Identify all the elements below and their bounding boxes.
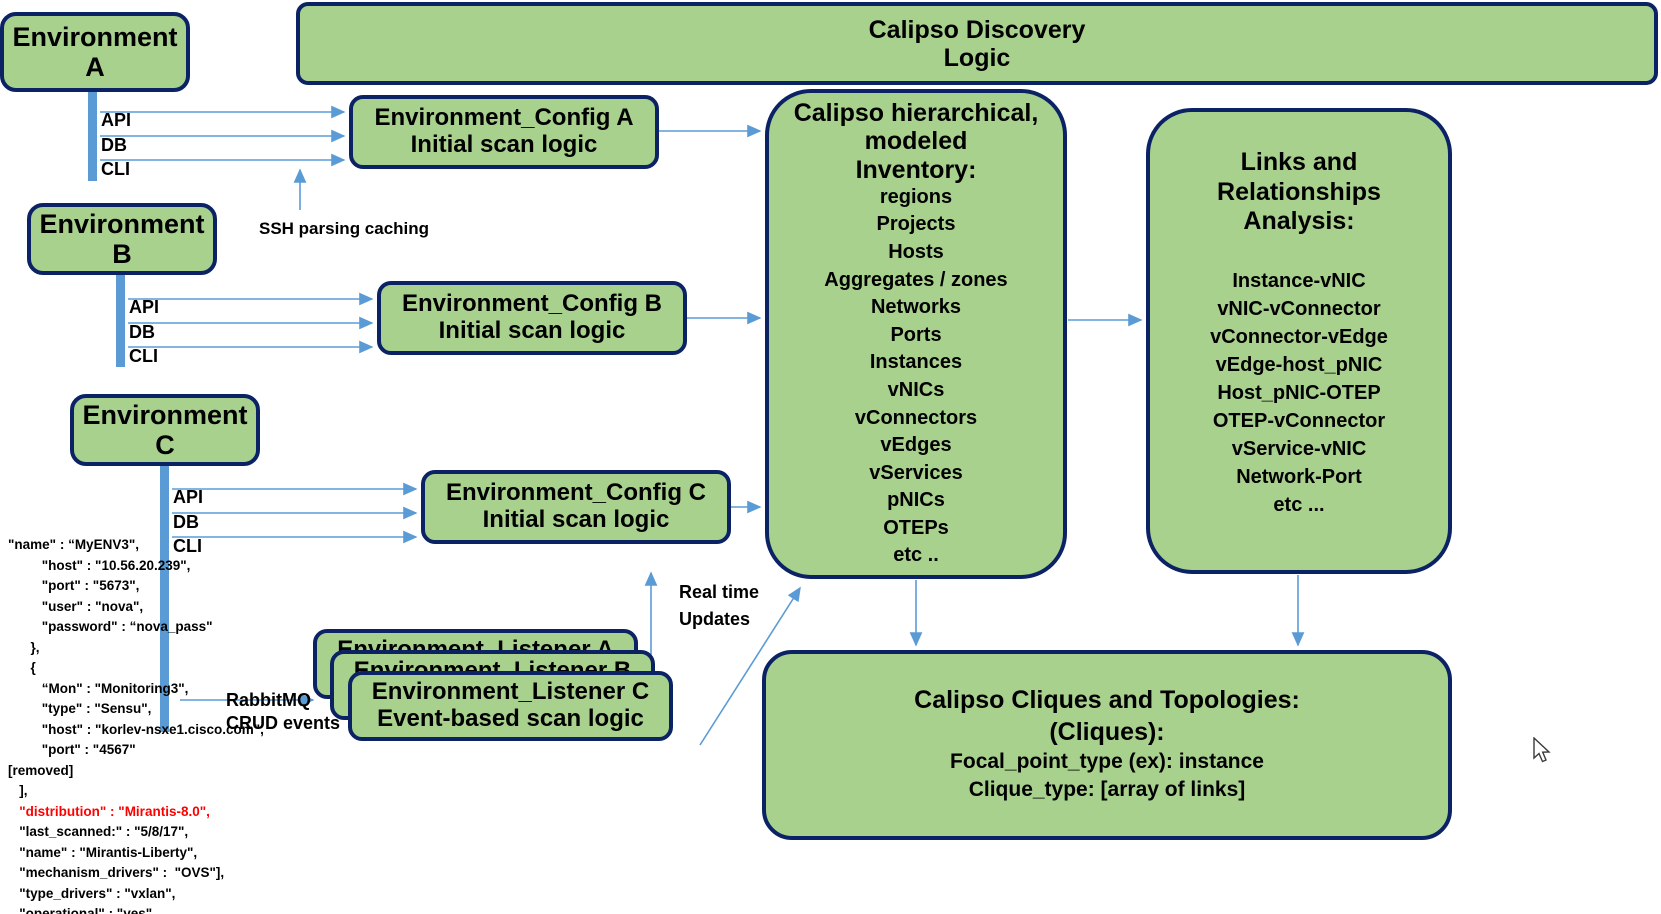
json-line: "host" : "10.56.20.239", bbox=[8, 556, 328, 577]
links-item: Instance-vNIC bbox=[1150, 267, 1448, 295]
inventory-item: Networks bbox=[769, 294, 1063, 322]
cliques-head-line-1: Calipso Cliques and Topologies: bbox=[766, 685, 1448, 716]
env-b-protocol-db: DB bbox=[129, 322, 155, 343]
json-line: "last_scanned:" : "5/8/17", bbox=[8, 822, 328, 843]
links-head-line-2: Relationships bbox=[1150, 178, 1448, 208]
links-item: vConnector-vEdge bbox=[1150, 323, 1448, 351]
environment-config-b-node[interactable]: Environment_Config B Initial scan logic bbox=[377, 281, 687, 355]
config-a-line-1: Environment_Config A bbox=[353, 105, 655, 132]
json-line: "name" : “MyENV3", bbox=[8, 535, 328, 556]
inventory-item: vConnectors bbox=[769, 405, 1063, 433]
calipso-cliques-topologies-node[interactable]: Calipso Cliques and Topologies: (Cliques… bbox=[762, 650, 1452, 840]
json-line: "distribution" : "Mirantis-8.0", bbox=[8, 802, 328, 823]
environment-a-line-1: Environment bbox=[4, 22, 186, 52]
cliques-item: Clique_type: [array of links] bbox=[766, 776, 1448, 804]
links-relationships-node[interactable]: Links and Relationships Analysis: Instan… bbox=[1146, 108, 1452, 574]
listener-c-line-2: Event-based scan logic bbox=[352, 706, 669, 733]
banner-line-1: Calipso Discovery bbox=[300, 16, 1654, 44]
env-a-bus-bar bbox=[88, 88, 97, 181]
ssh-parsing-caching-label: SSH parsing caching bbox=[259, 219, 429, 239]
env-c-protocol-api: API bbox=[173, 487, 203, 508]
inventory-item: Hosts bbox=[769, 239, 1063, 267]
environment-config-a-node[interactable]: Environment_Config A Initial scan logic bbox=[349, 95, 659, 169]
links-item: vEdge-host_pNIC bbox=[1150, 351, 1448, 379]
calipso-inventory-node[interactable]: Calipso hierarchical, modeled Inventory:… bbox=[765, 89, 1067, 579]
listener-c-line-1: Environment_Listener C bbox=[352, 679, 669, 706]
environment-c-line-1: Environment bbox=[74, 400, 256, 430]
realtime-updates-line-1: Real time bbox=[679, 582, 759, 603]
links-item: etc ... bbox=[1150, 491, 1448, 519]
links-spacer bbox=[1150, 237, 1448, 267]
links-item: Network-Port bbox=[1150, 463, 1448, 491]
inventory-head-line-2: modeled bbox=[769, 127, 1063, 155]
json-line: "user" : "nova", bbox=[8, 597, 328, 618]
config-a-line-2: Initial scan logic bbox=[353, 132, 655, 159]
cliques-item: Focal_point_type (ex): instance bbox=[766, 748, 1448, 776]
links-item: vService-vNIC bbox=[1150, 435, 1448, 463]
inventory-item: vServices bbox=[769, 460, 1063, 488]
inventory-item: vNICs bbox=[769, 377, 1063, 405]
environment-config-c-node[interactable]: Environment_Config C Initial scan logic bbox=[421, 470, 731, 544]
env-b-protocol-cli: CLI bbox=[129, 346, 158, 367]
json-line: [removed] bbox=[8, 761, 328, 782]
environment-a-node[interactable]: Environment A bbox=[0, 12, 190, 92]
inventory-item: Instances bbox=[769, 349, 1063, 377]
mouse-cursor-icon bbox=[1533, 737, 1555, 767]
inventory-item: pNICs bbox=[769, 487, 1063, 515]
inventory-item: regions bbox=[769, 184, 1063, 212]
json-line: "port" : "4567" bbox=[8, 740, 328, 761]
cliques-head-line-2: (Cliques): bbox=[766, 717, 1448, 748]
inventory-item: Aggregates / zones bbox=[769, 267, 1063, 295]
diagram-canvas: Calipso Discovery Logic Environment A En… bbox=[0, 0, 1661, 914]
env-c-protocol-db: DB bbox=[173, 512, 199, 533]
json-line: "mechanism_drivers" : "OVS"], bbox=[8, 863, 328, 884]
env-b-bus-bar bbox=[116, 272, 125, 367]
config-c-line-1: Environment_Config C bbox=[425, 480, 727, 507]
environment-b-line-1: Environment bbox=[31, 209, 213, 239]
environment-b-line-2: B bbox=[31, 239, 213, 269]
inventory-item: Projects bbox=[769, 211, 1063, 239]
env-b-protocol-api: API bbox=[129, 297, 159, 318]
realtime-updates-line-2: Updates bbox=[679, 609, 750, 630]
config-b-line-1: Environment_Config B bbox=[381, 291, 683, 318]
environment-c-node[interactable]: Environment C bbox=[70, 394, 260, 466]
inventory-item: vEdges bbox=[769, 432, 1063, 460]
links-item: OTEP-vConnector bbox=[1150, 407, 1448, 435]
env-a-protocol-cli: CLI bbox=[101, 159, 130, 180]
json-line: { bbox=[8, 658, 328, 679]
inventory-head-line-1: Calipso hierarchical, bbox=[769, 99, 1063, 127]
links-item: Host_pNIC-OTEP bbox=[1150, 379, 1448, 407]
json-line: "password" : “nova_pass" bbox=[8, 617, 328, 638]
env-a-protocol-api: API bbox=[101, 110, 131, 131]
links-item: vNIC-vConnector bbox=[1150, 295, 1448, 323]
json-line: }, bbox=[8, 638, 328, 659]
inventory-head-line-3: Inventory: bbox=[769, 156, 1063, 184]
inventory-item: OTEPs bbox=[769, 515, 1063, 543]
rabbitmq-label: RabbitMQ bbox=[226, 690, 311, 711]
json-line: "type_drivers" : "vxlan", bbox=[8, 884, 328, 905]
environment-c-line-2: C bbox=[74, 430, 256, 460]
inventory-item: Ports bbox=[769, 322, 1063, 350]
banner-line-2: Logic bbox=[300, 44, 1654, 72]
crud-events-label: CRUD events bbox=[226, 713, 340, 734]
inventory-item: etc .. bbox=[769, 542, 1063, 570]
environment-a-line-2: A bbox=[4, 52, 186, 82]
environment-listener-c-node[interactable]: Environment_Listener C Event-based scan … bbox=[348, 671, 673, 741]
json-line: ], bbox=[8, 781, 328, 802]
json-line: "operational" : "yes", bbox=[8, 904, 328, 914]
links-head-line-1: Links and bbox=[1150, 148, 1448, 178]
config-b-line-2: Initial scan logic bbox=[381, 318, 683, 345]
env-c-protocol-cli: CLI bbox=[173, 536, 202, 557]
json-line: "name" : "Mirantis-Liberty", bbox=[8, 843, 328, 864]
config-c-line-2: Initial scan logic bbox=[425, 507, 727, 534]
calipso-discovery-logic-banner: Calipso Discovery Logic bbox=[296, 2, 1658, 85]
json-line: "port" : "5673", bbox=[8, 576, 328, 597]
env-a-protocol-db: DB bbox=[101, 135, 127, 156]
links-head-line-3: Analysis: bbox=[1150, 207, 1448, 237]
environment-b-node[interactable]: Environment B bbox=[27, 203, 217, 275]
